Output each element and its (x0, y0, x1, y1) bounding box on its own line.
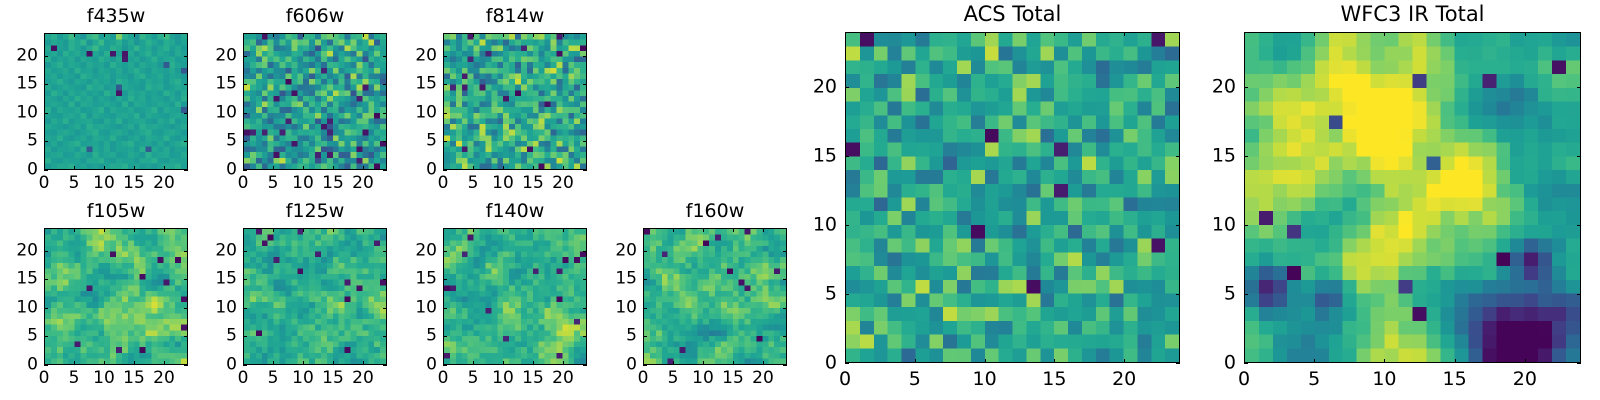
x-tick-label-f160w: 20 (752, 370, 774, 387)
heatmap-image-acs-total (846, 33, 1179, 362)
x-tick-label-f125w: 5 (268, 370, 279, 387)
axes-f160w (643, 228, 787, 365)
x-tick-f435w (104, 166, 105, 170)
axes-wfc3-total (1244, 32, 1581, 363)
y-tick-label-f105w: 15 (10, 271, 38, 288)
x-tick-label-f606w: 5 (268, 175, 279, 192)
x-tick-label-f160w: 5 (668, 370, 679, 387)
y-tick-wfc3-total (1244, 225, 1248, 226)
axes-f435w (44, 33, 188, 170)
y-tick-right-f105w (184, 336, 188, 337)
x-tick-label-f160w: 15 (722, 370, 744, 387)
y-tick-right-f435w (184, 141, 188, 142)
x-tick-f140w (503, 361, 504, 365)
x-tick-top-wfc3-total (1244, 32, 1245, 36)
y-tick-f814w (443, 56, 447, 57)
x-tick-f105w (74, 361, 75, 365)
x-tick-acs-total (985, 359, 986, 363)
x-tick-label-wfc3-total: 15 (1443, 370, 1467, 389)
y-tick-right-wfc3-total (1577, 294, 1581, 295)
heatmap-image-f105w (45, 229, 187, 364)
x-tick-top-f814w (503, 33, 504, 37)
x-tick-label-f814w: 15 (522, 175, 544, 192)
x-tick-top-f814w (443, 33, 444, 37)
y-tick-label-f160w: 10 (609, 299, 637, 316)
x-tick-f606w (333, 166, 334, 170)
panel-f435w: f435w0510152005101520 (44, 33, 188, 170)
y-tick-right-f814w (583, 113, 587, 114)
y-tick-label-f140w: 15 (409, 271, 437, 288)
x-tick-label-f435w: 5 (69, 175, 80, 192)
axes-f606w (243, 33, 387, 170)
y-tick-acs-total (845, 294, 849, 295)
heatmap-image-f125w (244, 229, 386, 364)
panel-title-wfc3-total: WFC3 IR Total (1244, 4, 1581, 25)
y-tick-wfc3-total (1244, 363, 1248, 364)
x-tick-top-f125w (243, 228, 244, 232)
panel-f105w: f105w0510152005101520 (44, 228, 188, 365)
x-tick-top-f606w (303, 33, 304, 37)
x-tick-top-f105w (44, 228, 45, 232)
x-tick-label-f160w: 10 (692, 370, 714, 387)
y-tick-label-f160w: 20 (609, 242, 637, 259)
y-tick-f814w (443, 113, 447, 114)
y-tick-f140w (443, 365, 447, 366)
x-tick-label-f606w: 20 (352, 175, 374, 192)
x-tick-f105w (164, 361, 165, 365)
y-tick-f606w (243, 141, 247, 142)
heatmap-image-wfc3-total (1245, 33, 1580, 362)
y-tick-right-f606w (383, 56, 387, 57)
y-tick-label-f435w: 10 (10, 104, 38, 121)
x-tick-label-wfc3-total: 0 (1238, 370, 1250, 389)
y-tick-label-f105w: 5 (10, 328, 38, 345)
y-tick-label-f125w: 0 (209, 357, 237, 374)
x-tick-label-acs-total: 15 (1042, 370, 1066, 389)
y-tick-right-wfc3-total (1577, 225, 1581, 226)
x-tick-top-f435w (74, 33, 75, 37)
y-tick-label-f814w: 20 (409, 47, 437, 64)
y-tick-label-f435w: 5 (10, 133, 38, 150)
panel-f160w: f160w0510152005101520 (643, 228, 787, 365)
panel-title-f435w: f435w (44, 7, 188, 26)
x-tick-wfc3-total (1525, 359, 1526, 363)
y-tick-f140w (443, 279, 447, 280)
panel-f140w: f140w0510152005101520 (443, 228, 587, 365)
x-tick-f125w (303, 361, 304, 365)
y-tick-label-f160w: 5 (609, 328, 637, 345)
y-tick-right-f606w (383, 141, 387, 142)
x-tick-f160w (673, 361, 674, 365)
x-tick-top-f105w (164, 228, 165, 232)
y-tick-right-f125w (383, 251, 387, 252)
panel-f606w: f606w0510152005101520 (243, 33, 387, 170)
heatmap-image-f814w (444, 34, 586, 169)
panel-title-f125w: f125w (243, 202, 387, 221)
x-tick-f435w (134, 166, 135, 170)
x-tick-label-f814w: 0 (438, 175, 449, 192)
y-tick-label-f105w: 0 (10, 357, 38, 374)
y-tick-right-f105w (184, 365, 188, 366)
x-tick-top-f160w (703, 228, 704, 232)
panel-wfc3-total: WFC3 IR Total0510152005101520 (1244, 32, 1581, 363)
y-tick-acs-total (845, 225, 849, 226)
x-tick-label-f105w: 15 (123, 370, 145, 387)
x-tick-label-f140w: 5 (468, 370, 479, 387)
panel-title-acs-total: ACS Total (845, 4, 1180, 25)
x-tick-wfc3-total (1384, 359, 1385, 363)
panel-title-f606w: f606w (243, 7, 387, 26)
x-tick-top-f140w (563, 228, 564, 232)
y-tick-right-f125w (383, 336, 387, 337)
y-tick-right-f140w (583, 251, 587, 252)
y-tick-f125w (243, 308, 247, 309)
x-tick-label-f125w: 0 (238, 370, 249, 387)
y-tick-f435w (44, 113, 48, 114)
y-tick-right-f105w (184, 308, 188, 309)
x-tick-top-f435w (134, 33, 135, 37)
x-tick-top-f160w (763, 228, 764, 232)
y-tick-right-f814w (583, 84, 587, 85)
y-tick-f140w (443, 308, 447, 309)
y-tick-right-f105w (184, 279, 188, 280)
x-tick-f814w (533, 166, 534, 170)
y-tick-f105w (44, 279, 48, 280)
y-tick-f435w (44, 170, 48, 171)
panel-title-f105w: f105w (44, 202, 188, 221)
x-tick-label-acs-total: 10 (972, 370, 996, 389)
heatmap-image-f140w (444, 229, 586, 364)
x-tick-f814w (503, 166, 504, 170)
y-tick-right-wfc3-total (1577, 363, 1581, 364)
x-tick-f606w (303, 166, 304, 170)
y-tick-label-f140w: 10 (409, 299, 437, 316)
y-tick-right-f814w (583, 141, 587, 142)
y-tick-f606w (243, 56, 247, 57)
y-tick-right-f160w (783, 279, 787, 280)
x-tick-label-f435w: 10 (93, 175, 115, 192)
x-tick-top-acs-total (915, 32, 916, 36)
x-tick-top-f606w (243, 33, 244, 37)
heatmap-image-f606w (244, 34, 386, 169)
x-tick-wfc3-total (1314, 359, 1315, 363)
x-tick-top-f125w (273, 228, 274, 232)
x-tick-label-f105w: 10 (93, 370, 115, 387)
y-tick-f140w (443, 336, 447, 337)
x-tick-f606w (363, 166, 364, 170)
x-tick-top-f140w (503, 228, 504, 232)
x-tick-top-f125w (363, 228, 364, 232)
x-tick-top-f160w (643, 228, 644, 232)
y-tick-acs-total (845, 87, 849, 88)
x-tick-acs-total (1124, 359, 1125, 363)
y-tick-f606w (243, 113, 247, 114)
y-tick-f814w (443, 84, 447, 85)
y-tick-label-f606w: 0 (209, 162, 237, 179)
y-tick-f814w (443, 170, 447, 171)
y-tick-right-acs-total (1176, 225, 1180, 226)
y-tick-label-wfc3-total: 5 (1206, 285, 1236, 304)
x-tick-acs-total (915, 359, 916, 363)
y-tick-right-f125w (383, 279, 387, 280)
x-tick-label-wfc3-total: 5 (1308, 370, 1320, 389)
y-tick-wfc3-total (1244, 156, 1248, 157)
y-tick-f160w (643, 308, 647, 309)
x-tick-label-f160w: 0 (638, 370, 649, 387)
y-tick-f140w (443, 251, 447, 252)
x-tick-label-f105w: 0 (39, 370, 50, 387)
axes-f125w (243, 228, 387, 365)
y-tick-right-f606w (383, 113, 387, 114)
y-tick-right-wfc3-total (1577, 156, 1581, 157)
x-tick-top-f606w (363, 33, 364, 37)
y-tick-label-f160w: 0 (609, 357, 637, 374)
y-tick-label-acs-total: 20 (807, 78, 837, 97)
y-tick-f105w (44, 308, 48, 309)
y-tick-label-acs-total: 0 (807, 354, 837, 373)
x-tick-top-f105w (74, 228, 75, 232)
y-tick-right-f435w (184, 84, 188, 85)
x-tick-f160w (763, 361, 764, 365)
y-tick-f105w (44, 251, 48, 252)
y-tick-right-acs-total (1176, 294, 1180, 295)
y-tick-f606w (243, 84, 247, 85)
x-tick-top-f125w (303, 228, 304, 232)
x-tick-top-acs-total (985, 32, 986, 36)
y-tick-f160w (643, 279, 647, 280)
x-tick-f140w (563, 361, 564, 365)
y-tick-label-f125w: 5 (209, 328, 237, 345)
x-tick-label-f435w: 0 (39, 175, 50, 192)
x-tick-label-f814w: 10 (492, 175, 514, 192)
panel-title-f160w: f160w (643, 202, 787, 221)
x-tick-top-f125w (333, 228, 334, 232)
panel-title-f814w: f814w (443, 7, 587, 26)
x-tick-top-wfc3-total (1525, 32, 1526, 36)
x-tick-label-f105w: 20 (153, 370, 175, 387)
x-tick-top-acs-total (845, 32, 846, 36)
y-tick-right-f606w (383, 170, 387, 171)
x-tick-f160w (703, 361, 704, 365)
y-tick-right-f435w (184, 113, 188, 114)
y-tick-f814w (443, 141, 447, 142)
heatmap-image-f160w (644, 229, 786, 364)
x-tick-label-f125w: 20 (352, 370, 374, 387)
y-tick-right-f160w (783, 365, 787, 366)
y-tick-label-wfc3-total: 15 (1206, 147, 1236, 166)
x-tick-wfc3-total (1455, 359, 1456, 363)
y-tick-label-f435w: 15 (10, 76, 38, 93)
panel-f814w: f814w0510152005101520 (443, 33, 587, 170)
y-tick-right-f160w (783, 308, 787, 309)
x-tick-top-f105w (134, 228, 135, 232)
y-tick-f125w (243, 336, 247, 337)
y-tick-label-f435w: 20 (10, 47, 38, 64)
x-tick-label-f140w: 20 (552, 370, 574, 387)
x-tick-top-f435w (44, 33, 45, 37)
panel-acs-total: ACS Total0510152005101520 (845, 32, 1180, 363)
y-tick-f160w (643, 336, 647, 337)
x-tick-f160w (733, 361, 734, 365)
x-tick-label-f435w: 15 (123, 175, 145, 192)
y-tick-f125w (243, 279, 247, 280)
y-tick-f606w (243, 170, 247, 171)
x-tick-top-f105w (104, 228, 105, 232)
x-tick-top-wfc3-total (1455, 32, 1456, 36)
x-tick-top-f140w (443, 228, 444, 232)
y-tick-wfc3-total (1244, 294, 1248, 295)
y-tick-right-f435w (184, 170, 188, 171)
x-tick-f606w (273, 166, 274, 170)
axes-f814w (443, 33, 587, 170)
y-tick-label-wfc3-total: 20 (1206, 78, 1236, 97)
x-tick-label-wfc3-total: 10 (1372, 370, 1396, 389)
y-tick-right-f814w (583, 56, 587, 57)
y-tick-f435w (44, 56, 48, 57)
x-tick-label-f814w: 5 (468, 175, 479, 192)
y-tick-f435w (44, 84, 48, 85)
x-tick-f125w (363, 361, 364, 365)
y-tick-right-f140w (583, 336, 587, 337)
axes-f105w (44, 228, 188, 365)
x-tick-top-f160w (733, 228, 734, 232)
x-tick-top-f606w (333, 33, 334, 37)
y-tick-label-f435w: 0 (10, 162, 38, 179)
y-tick-label-f606w: 10 (209, 104, 237, 121)
multi-panel-heatmap-figure: f435w0510152005101520f606w05101520051015… (0, 0, 1600, 400)
x-tick-label-f140w: 15 (522, 370, 544, 387)
y-tick-label-f814w: 15 (409, 76, 437, 93)
x-tick-label-f814w: 20 (552, 175, 574, 192)
x-tick-label-f125w: 10 (292, 370, 314, 387)
x-tick-label-f435w: 20 (153, 175, 175, 192)
x-tick-f140w (473, 361, 474, 365)
x-tick-top-wfc3-total (1384, 32, 1385, 36)
y-tick-label-acs-total: 10 (807, 216, 837, 235)
axes-f140w (443, 228, 587, 365)
x-tick-top-f814w (533, 33, 534, 37)
y-tick-right-f140w (583, 279, 587, 280)
y-tick-label-f140w: 5 (409, 328, 437, 345)
y-tick-label-f140w: 20 (409, 242, 437, 259)
x-tick-top-f606w (273, 33, 274, 37)
y-tick-f105w (44, 365, 48, 366)
x-tick-f125w (333, 361, 334, 365)
x-tick-top-acs-total (1124, 32, 1125, 36)
x-tick-top-wfc3-total (1314, 32, 1315, 36)
y-tick-label-f125w: 10 (209, 299, 237, 316)
x-tick-label-acs-total: 0 (839, 370, 851, 389)
x-tick-top-f814w (563, 33, 564, 37)
y-tick-right-f140w (583, 365, 587, 366)
x-tick-f140w (533, 361, 534, 365)
y-tick-label-f814w: 5 (409, 133, 437, 150)
y-tick-label-f125w: 20 (209, 242, 237, 259)
y-tick-f105w (44, 336, 48, 337)
y-tick-right-acs-total (1176, 87, 1180, 88)
y-tick-right-acs-total (1176, 156, 1180, 157)
x-tick-f435w (74, 166, 75, 170)
x-tick-label-wfc3-total: 20 (1513, 370, 1537, 389)
y-tick-right-f140w (583, 308, 587, 309)
panel-f125w: f125w0510152005101520 (243, 228, 387, 365)
x-tick-f125w (273, 361, 274, 365)
x-tick-label-acs-total: 5 (909, 370, 921, 389)
y-tick-label-acs-total: 15 (807, 147, 837, 166)
x-tick-label-f606w: 15 (322, 175, 344, 192)
x-tick-top-f435w (104, 33, 105, 37)
axes-acs-total (845, 32, 1180, 363)
y-tick-right-f606w (383, 84, 387, 85)
x-tick-f105w (134, 361, 135, 365)
x-tick-top-f140w (473, 228, 474, 232)
y-tick-acs-total (845, 156, 849, 157)
y-tick-f160w (643, 251, 647, 252)
y-tick-label-f814w: 10 (409, 104, 437, 121)
y-tick-right-f160w (783, 336, 787, 337)
x-tick-acs-total (1054, 359, 1055, 363)
y-tick-f125w (243, 365, 247, 366)
y-tick-label-f105w: 10 (10, 299, 38, 316)
y-tick-label-f160w: 15 (609, 271, 637, 288)
y-tick-right-f435w (184, 56, 188, 57)
y-tick-right-wfc3-total (1577, 87, 1581, 88)
y-tick-right-f125w (383, 308, 387, 309)
x-tick-label-f140w: 10 (492, 370, 514, 387)
x-tick-label-f140w: 0 (438, 370, 449, 387)
y-tick-right-f105w (184, 251, 188, 252)
y-tick-label-f105w: 20 (10, 242, 38, 259)
x-tick-f814w (563, 166, 564, 170)
y-tick-label-f606w: 20 (209, 47, 237, 64)
panel-title-f140w: f140w (443, 202, 587, 221)
y-tick-label-f140w: 0 (409, 357, 437, 374)
heatmap-image-f435w (45, 34, 187, 169)
x-tick-label-f606w: 10 (292, 175, 314, 192)
x-tick-top-f140w (533, 228, 534, 232)
y-tick-f160w (643, 365, 647, 366)
x-tick-f814w (473, 166, 474, 170)
x-tick-top-acs-total (1054, 32, 1055, 36)
y-tick-right-f125w (383, 365, 387, 366)
y-tick-right-f160w (783, 251, 787, 252)
x-tick-label-f105w: 5 (69, 370, 80, 387)
x-tick-f435w (164, 166, 165, 170)
x-tick-f105w (104, 361, 105, 365)
x-tick-top-f435w (164, 33, 165, 37)
y-tick-label-acs-total: 5 (807, 285, 837, 304)
x-tick-label-f125w: 15 (322, 370, 344, 387)
y-tick-right-f814w (583, 170, 587, 171)
x-tick-top-f814w (473, 33, 474, 37)
y-tick-label-wfc3-total: 10 (1206, 216, 1236, 235)
y-tick-label-f814w: 0 (409, 162, 437, 179)
x-tick-label-f606w: 0 (238, 175, 249, 192)
y-tick-wfc3-total (1244, 87, 1248, 88)
y-tick-right-acs-total (1176, 363, 1180, 364)
y-tick-label-f125w: 15 (209, 271, 237, 288)
y-tick-acs-total (845, 363, 849, 364)
y-tick-f125w (243, 251, 247, 252)
x-tick-label-acs-total: 20 (1112, 370, 1136, 389)
y-tick-f435w (44, 141, 48, 142)
y-tick-label-f606w: 5 (209, 133, 237, 150)
y-tick-label-wfc3-total: 0 (1206, 354, 1236, 373)
y-tick-label-f606w: 15 (209, 76, 237, 93)
x-tick-top-f160w (673, 228, 674, 232)
